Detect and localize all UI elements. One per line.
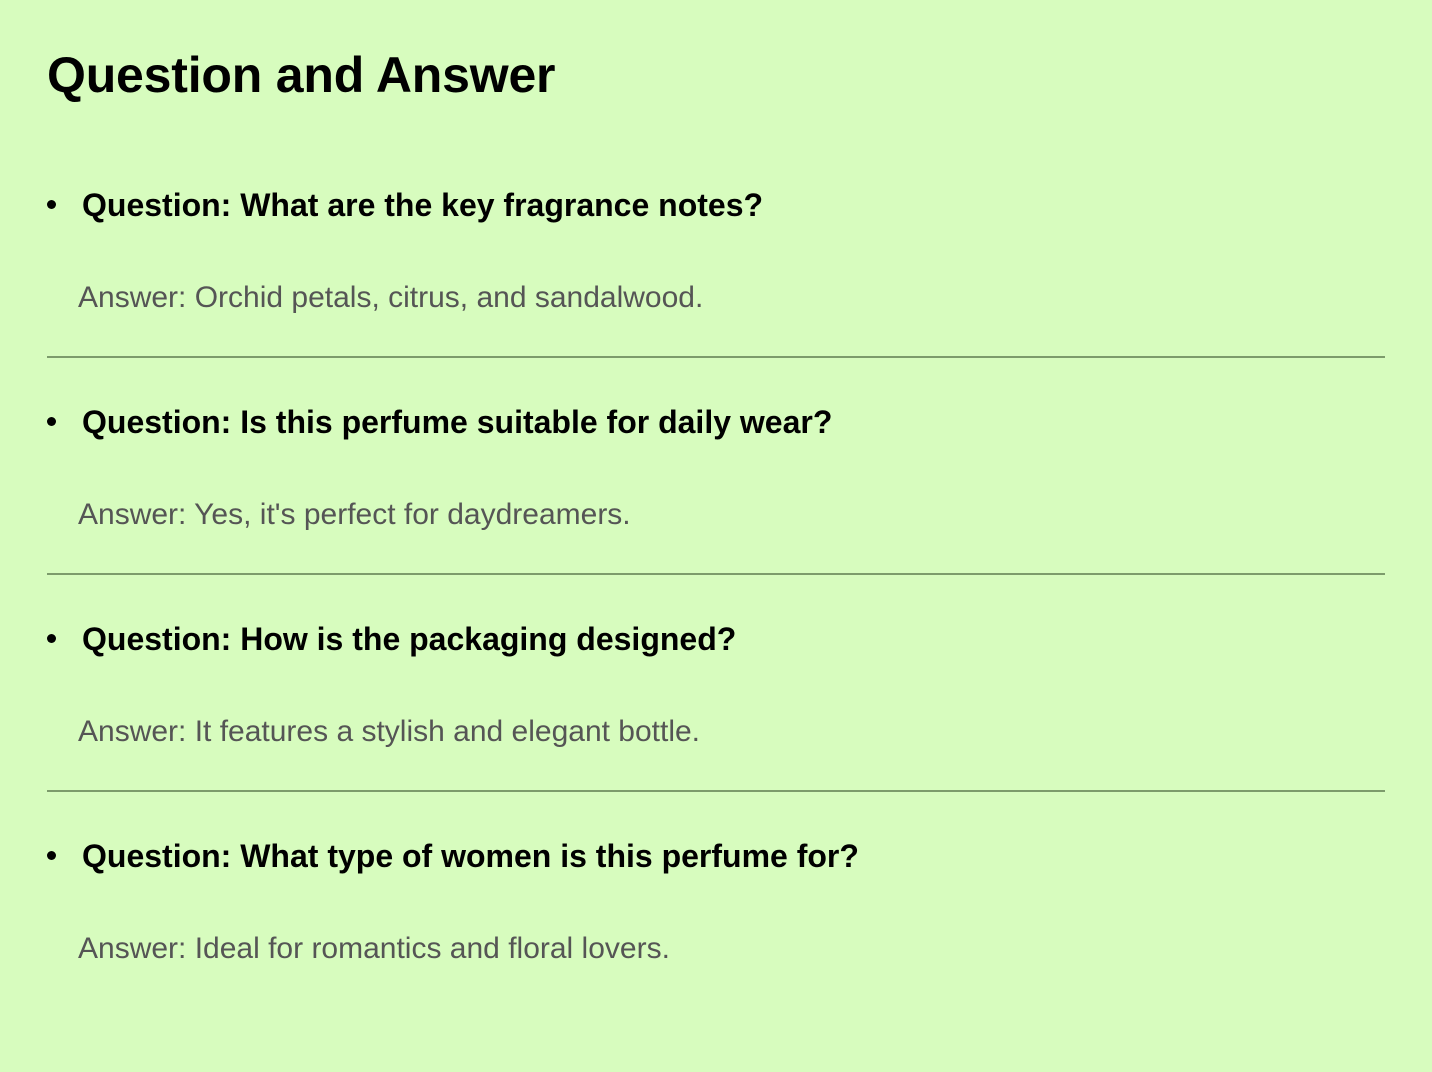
qa-item: Question: What are the key fragrance not… [0,160,1432,377]
bullet-icon [47,417,56,426]
qa-question: Question: Is this perfume suitable for d… [47,402,1385,444]
qa-answer-text: Answer: Yes, it's perfect for daydreamer… [78,495,1385,534]
qa-answer-text: Answer: It features a stylish and elegan… [78,712,1385,751]
qa-question-text: Question: What type of women is this per… [82,838,859,874]
qa-question: Question: How is the packaging designed? [47,619,1385,661]
qa-question: Question: What type of women is this per… [47,836,1385,878]
qa-divider [47,790,1385,792]
qa-question-text: Question: Is this perfume suitable for d… [82,404,832,440]
qa-divider [47,573,1385,575]
qa-list: Question: What are the key fragrance not… [0,160,1432,1028]
qa-item: Question: Is this perfume suitable for d… [0,377,1432,594]
qa-answer-text: Answer: Orchid petals, citrus, and sanda… [78,278,1385,317]
bullet-icon [47,200,56,209]
bullet-icon [47,851,56,860]
qa-question-text: Question: How is the packaging designed? [82,621,736,657]
qa-divider [47,356,1385,358]
qa-item: Question: How is the packaging designed?… [0,594,1432,811]
qa-item: Question: What type of women is this per… [0,811,1432,1028]
qa-question-text: Question: What are the key fragrance not… [82,187,763,223]
qa-question: Question: What are the key fragrance not… [47,185,1385,227]
page-title: Question and Answer [47,44,555,107]
qa-page: Question and Answer Question: What are t… [0,0,1432,1072]
qa-answer-text: Answer: Ideal for romantics and floral l… [78,929,1385,968]
bullet-icon [47,634,56,643]
